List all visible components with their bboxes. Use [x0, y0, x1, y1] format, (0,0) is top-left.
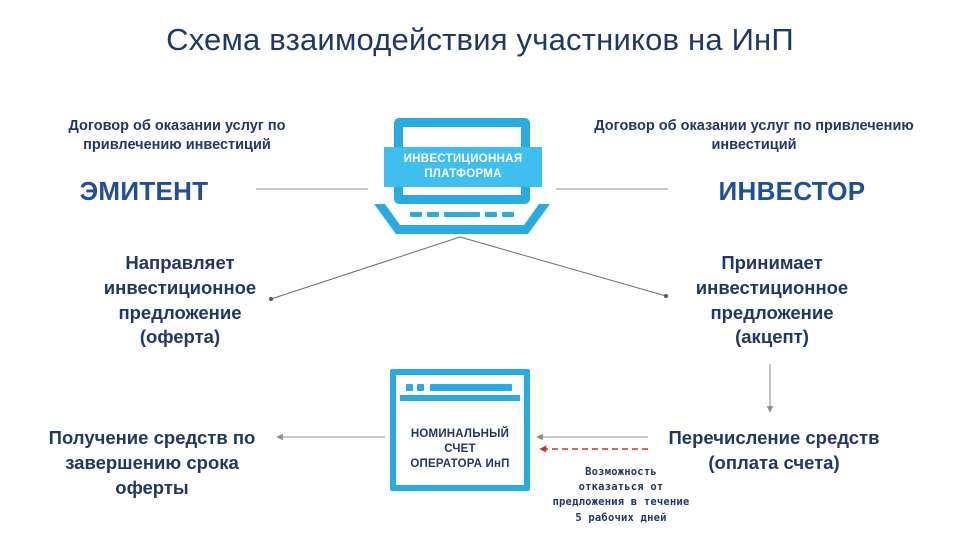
- browser-title-bar: [400, 379, 520, 401]
- investor-contract-line-1: Договор об оказании услуг по привлечению: [578, 117, 930, 136]
- receive-funds-line-3: оферты: [28, 476, 276, 501]
- transfer-funds-line-1: Перечисление средств: [650, 426, 898, 451]
- receive-funds-label: Получение средств по завершению срока оф…: [28, 426, 276, 500]
- laptop-keyboard-keys: [406, 212, 518, 217]
- key-2: [427, 212, 439, 217]
- investor-action-line-2: инвестиционное: [656, 276, 888, 301]
- key-3: [444, 212, 480, 217]
- page-title: Схема взаимодействия участников на ИнП: [0, 22, 960, 58]
- investor-action-line-1: Принимает: [656, 251, 888, 276]
- browser-address-bar-icon: [430, 384, 512, 391]
- emitent-action-line-4: (оферта): [58, 325, 302, 350]
- platform-banner-line-1: ИНВЕСТИЦИОННАЯ: [384, 152, 542, 167]
- party-emitent-label: ЭМИТЕНТ: [80, 176, 209, 206]
- investor-action-label: Принимает инвестиционное предложение (ак…: [656, 251, 888, 350]
- emitent-action-label: Направляет инвестиционное предложение (о…: [58, 251, 302, 350]
- emitent-action-line-2: инвестиционное: [58, 276, 302, 301]
- nominal-account-label: НОМИНАЛЬНЫЙ СЧЕТ ОПЕРАТОРА ИнП: [396, 427, 524, 472]
- laptop-base: [374, 204, 550, 234]
- key-4: [485, 212, 497, 217]
- investor-action-line-4: (акцепт): [656, 325, 888, 350]
- nominal-account-window-icon: НОМИНАЛЬНЫЙ СЧЕТ ОПЕРАТОРА ИнП: [390, 369, 530, 491]
- refusal-note-line-2: отказаться от: [528, 480, 714, 495]
- receive-funds-line-2: завершению срока: [28, 451, 276, 476]
- refusal-note-line-3: предложения в течение: [528, 495, 714, 510]
- connector-platform-to-accept: [460, 237, 666, 296]
- nominal-account-line-1: НОМИНАЛЬНЫЙ СЧЕТ: [396, 427, 524, 457]
- nominal-account-line-2: ОПЕРАТОРА ИнП: [396, 457, 524, 472]
- refusal-note-line-4: 5 рабочих дней: [528, 511, 714, 526]
- investor-contract-label: Договор об оказании услуг по привлечению…: [578, 117, 930, 154]
- key-5: [502, 212, 514, 217]
- refusal-note: Возможность отказаться от предложения в …: [528, 465, 714, 526]
- party-investor-label: ИНВЕСТОР: [719, 176, 866, 206]
- investor-contract-line-2: инвестиций: [578, 136, 930, 155]
- investment-platform-banner: ИНВЕСТИЦИОННАЯ ПЛАТФОРМА: [384, 147, 542, 187]
- emitent-contract-label: Договор об оказании услуг по привлечению…: [38, 117, 316, 154]
- party-investor: ИНВЕСТОР: [672, 175, 912, 208]
- party-emitent: ЭМИТЕНТ: [38, 175, 250, 208]
- browser-dot-1-icon: [406, 384, 413, 391]
- emitent-action-line-1: Направляет: [58, 251, 302, 276]
- key-1: [410, 212, 422, 217]
- receive-funds-line-1: Получение средств по: [28, 426, 276, 451]
- emitent-action-line-3: предложение: [58, 301, 302, 326]
- diagram-canvas: Схема взаимодействия участников на ИнП Д…: [0, 0, 960, 540]
- emitent-contract-line-2: привлечению инвестиций: [38, 136, 316, 155]
- refusal-note-line-1: Возможность: [528, 465, 714, 480]
- investor-action-line-3: предложение: [656, 301, 888, 326]
- browser-dot-2-icon: [417, 384, 424, 391]
- platform-banner-line-2: ПЛАТФОРМА: [384, 167, 542, 182]
- emitent-contract-line-1: Договор об оказании услуг по: [38, 117, 316, 136]
